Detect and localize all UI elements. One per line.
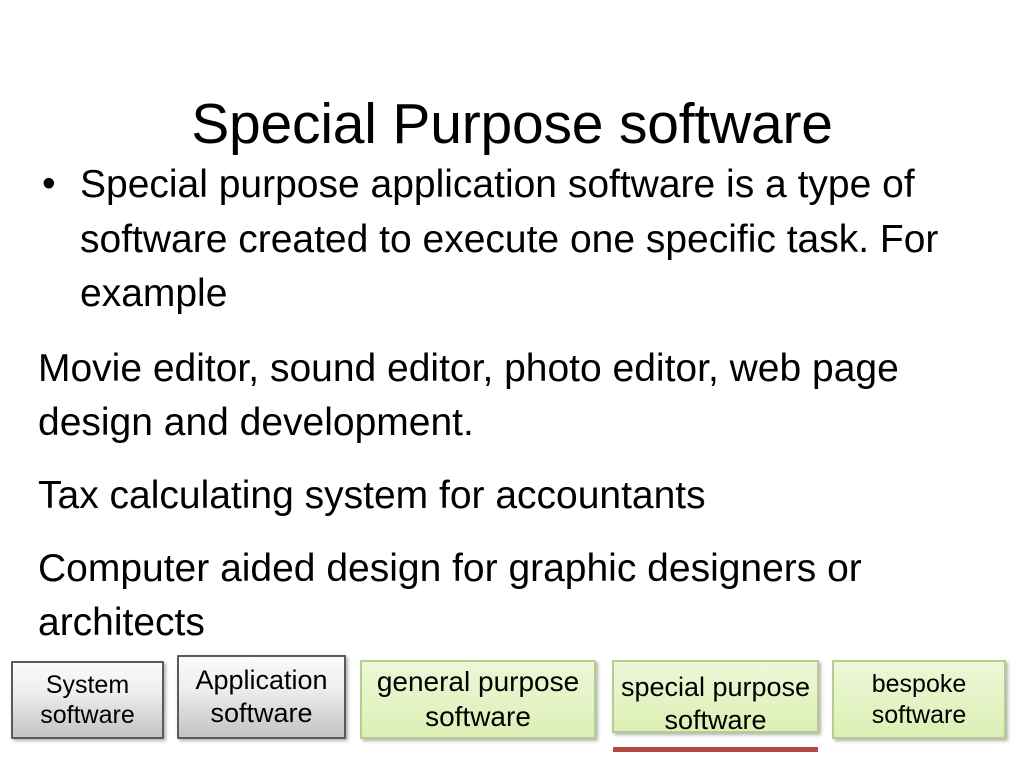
concept-box-system-software[interactable]: System software <box>11 661 164 739</box>
paragraph-movie-editor: Movie editor, sound editor, photo editor… <box>38 342 988 451</box>
concept-box-bespoke-software-label: bespoke software <box>834 669 1004 730</box>
paragraph-computer-aided-design: Computer aided design for graphic design… <box>38 542 988 651</box>
concept-box-bespoke-software[interactable]: bespoke software <box>832 660 1006 739</box>
concept-box-general-purpose-software-label: general purpose software <box>362 665 594 733</box>
paragraph-tax-system: Tax calculating system for accountants <box>38 469 988 524</box>
bullet-paragraph-1: • Special purpose application software i… <box>38 158 988 322</box>
special-purpose-software-underline <box>613 747 818 752</box>
bullet-icon: • <box>42 157 56 212</box>
concept-box-special-purpose-software[interactable]: special purpose software <box>612 660 819 733</box>
paragraph-tax-system-text: Tax calculating system for accountants <box>38 469 943 524</box>
page-title: Special Purpose software <box>0 94 1024 156</box>
concept-box-application-software[interactable]: Application software <box>177 655 346 739</box>
concept-box-application-software-label: Application software <box>179 664 344 730</box>
concept-box-system-software-label: System software <box>13 670 162 731</box>
slide-canvas: Special Purpose software • Special purpo… <box>0 0 1024 767</box>
concept-box-special-purpose-software-label: special purpose software <box>614 662 817 737</box>
paragraph-computer-aided-design-text: Computer aided design for graphic design… <box>38 542 943 651</box>
bullet-paragraph-1-text: Special purpose application software is … <box>80 158 970 322</box>
slide-body: • Special purpose application software i… <box>38 158 988 657</box>
concept-box-general-purpose-software[interactable]: general purpose software <box>360 660 596 739</box>
paragraph-movie-editor-text: Movie editor, sound editor, photo editor… <box>38 342 943 451</box>
